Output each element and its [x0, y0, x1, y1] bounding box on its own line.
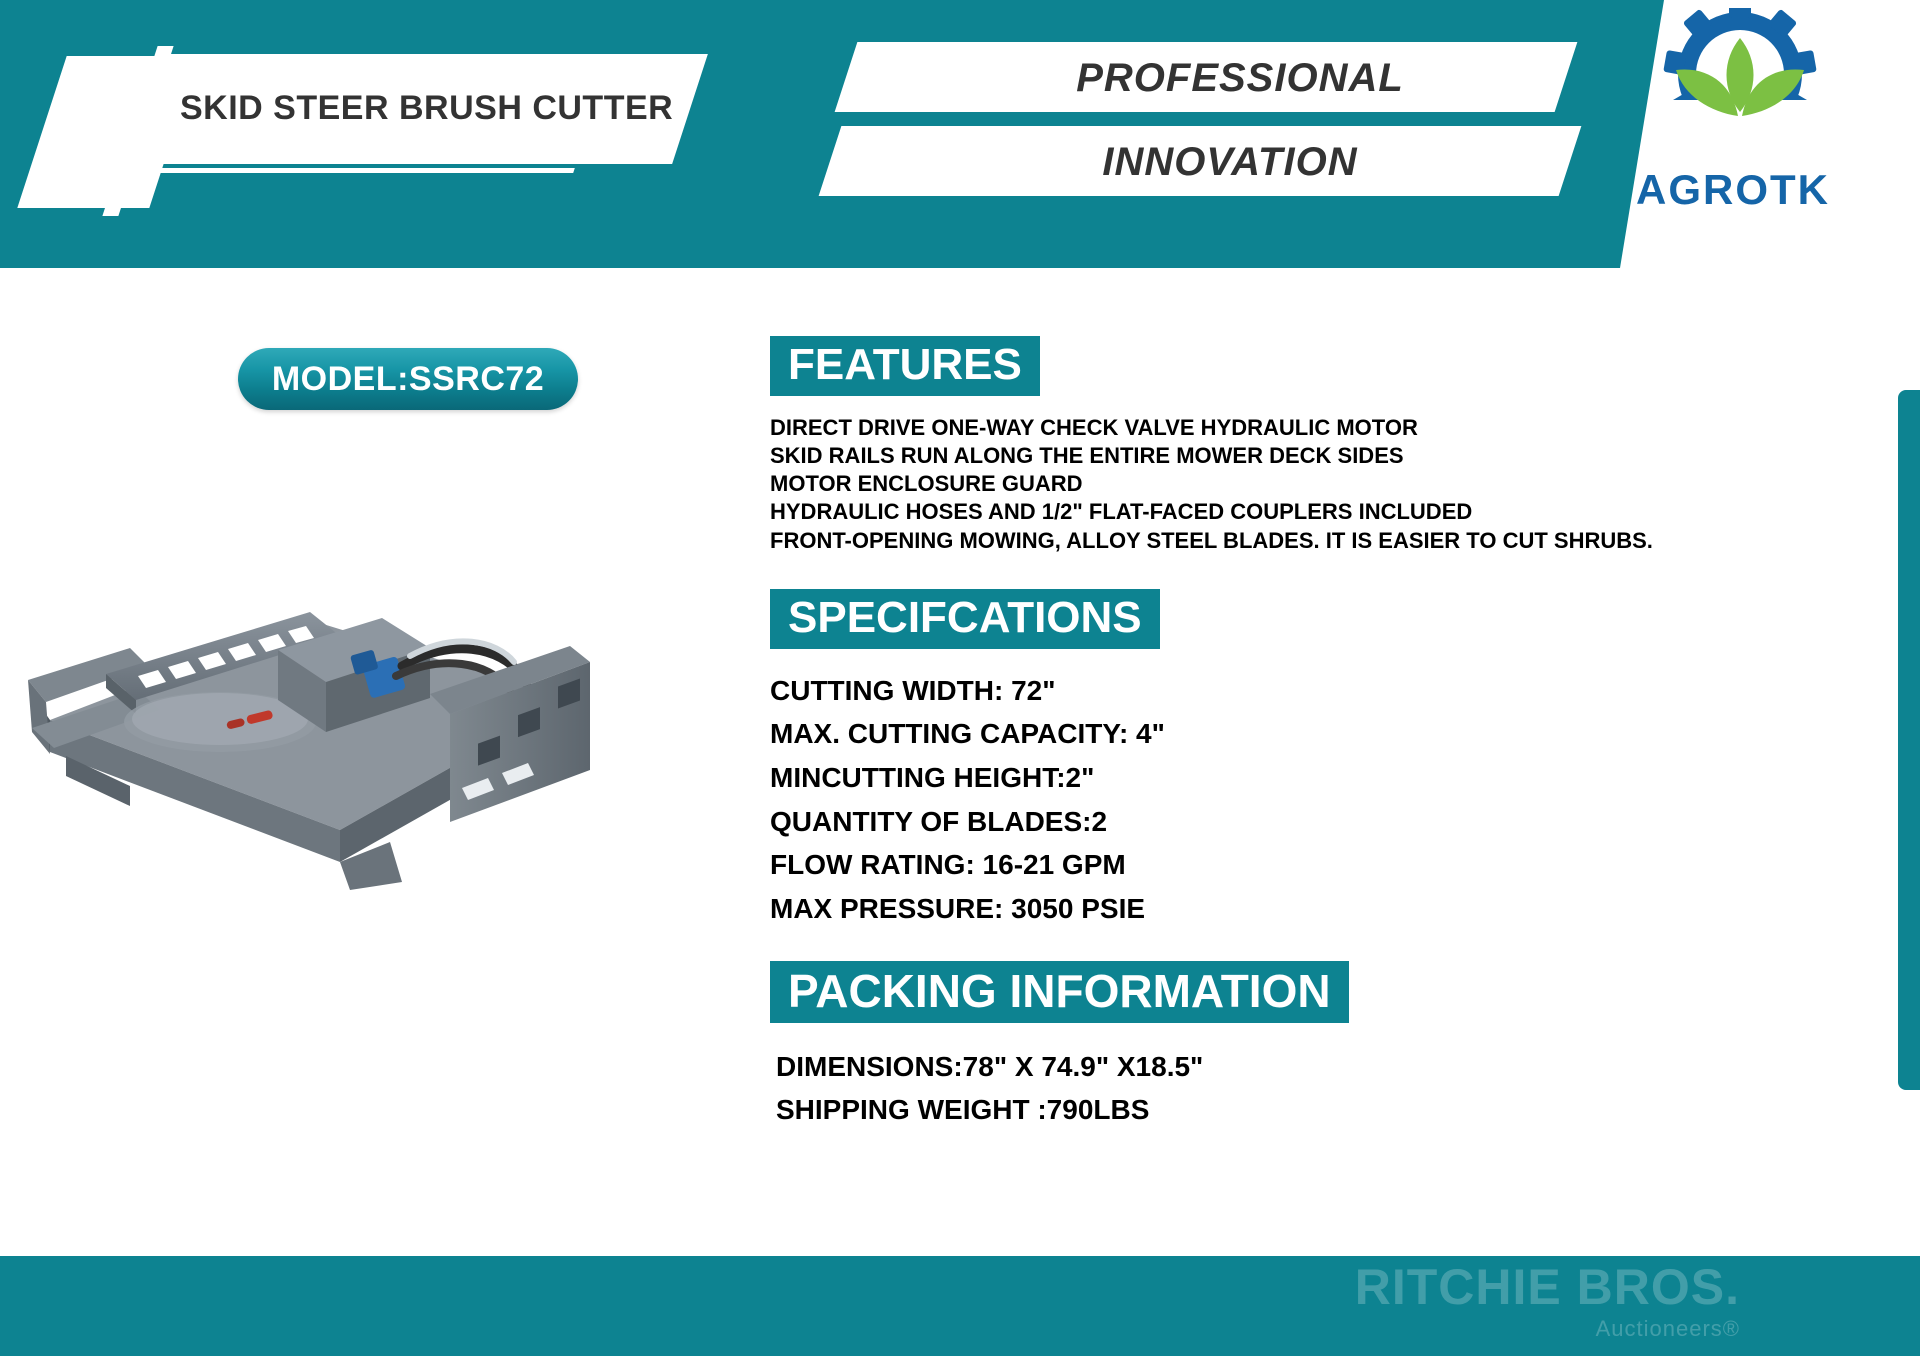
features-list: DIRECT DRIVE ONE-WAY CHECK VALVE HYDRAUL…	[770, 414, 1730, 555]
tagline-professional: PROFESSIONAL	[890, 46, 1590, 110]
spec-sheet-content: FEATURES DIRECT DRIVE ONE-WAY CHECK VALV…	[770, 336, 1730, 1132]
section-heading-specifications: SPECIFCATIONS	[770, 589, 1160, 649]
spec-item: MAX PRESSURE: 3050 PSIE	[770, 887, 1730, 931]
page-header: SKID STEER BRUSH CUTTER PROFESSIONAL INN…	[0, 0, 1920, 268]
feature-item: SKID RAILS RUN ALONG THE ENTIRE MOWER DE…	[770, 442, 1730, 470]
spec-item: QUANTITY OF BLADES:2	[770, 800, 1730, 844]
specifications-list: CUTTING WIDTH: 72" MAX. CUTTING CAPACITY…	[770, 669, 1730, 931]
section-heading-features: FEATURES	[770, 336, 1040, 396]
feature-item: FRONT-OPENING MOWING, ALLOY STEEL BLADES…	[770, 527, 1730, 555]
page-footer: RITCHIE BROS. Auctioneers®	[0, 1256, 1920, 1356]
spec-item: FLOW RATING: 16-21 GPM	[770, 843, 1730, 887]
packing-list: DIMENSIONS:78" X 74.9" X18.5" SHIPPING W…	[770, 1045, 1730, 1132]
packing-item: DIMENSIONS:78" X 74.9" X18.5"	[776, 1045, 1730, 1088]
feature-item: MOTOR ENCLOSURE GUARD	[770, 470, 1730, 498]
feature-item: HYDRAULIC HOSES AND 1/2" FLAT-FACED COUP…	[770, 498, 1730, 526]
watermark-title: RITCHIE BROS.	[1355, 1262, 1740, 1312]
side-tab	[1898, 390, 1920, 1090]
tagline-innovation: INNOVATION	[880, 130, 1580, 194]
model-badge: MODEL:SSRC72	[238, 348, 578, 410]
feature-item: DIRECT DRIVE ONE-WAY CHECK VALVE HYDRAUL…	[770, 414, 1730, 442]
packing-item: SHIPPING WEIGHT :790LBS	[776, 1088, 1730, 1131]
spec-item: CUTTING WIDTH: 72"	[770, 669, 1730, 713]
footer-watermark: RITCHIE BROS. Auctioneers®	[1355, 1262, 1740, 1342]
brand-logo: AGROTK	[1608, 8, 1858, 238]
page-title: SKID STEER BRUSH CUTTER	[180, 72, 700, 144]
agrotk-gear-leaf-icon	[1650, 8, 1830, 170]
product-photo-brush-cutter	[10, 470, 630, 890]
header-underline	[125, 168, 575, 173]
watermark-subtitle: Auctioneers®	[1355, 1316, 1740, 1342]
spec-item: MAX. CUTTING CAPACITY: 4"	[770, 712, 1730, 756]
model-badge-label: MODEL:SSRC72	[272, 360, 544, 399]
spec-item: MINCUTTING HEIGHT:2"	[770, 756, 1730, 800]
section-heading-packing: PACKING INFORMATION	[770, 961, 1349, 1023]
brand-name: AGROTK	[1608, 166, 1858, 214]
